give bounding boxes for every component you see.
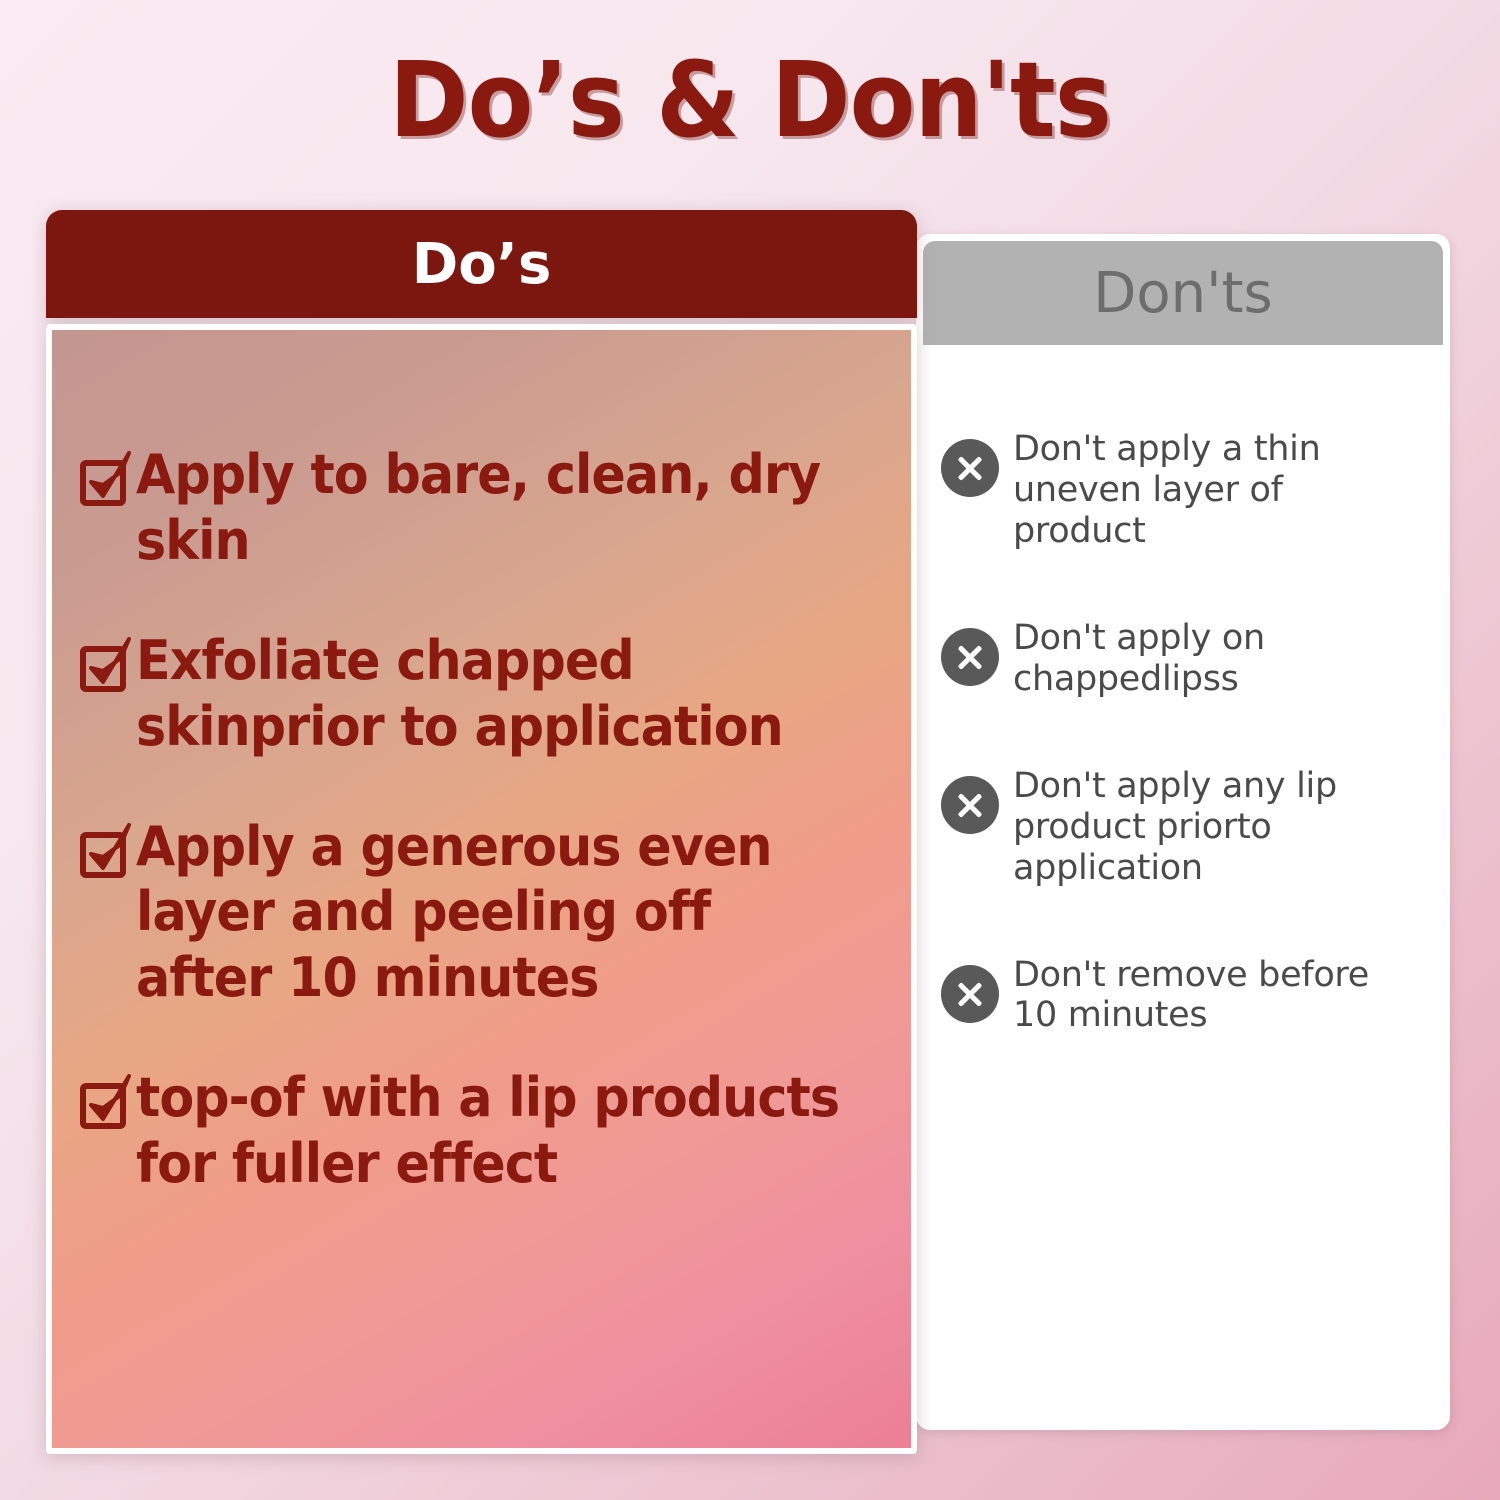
list-item-label: Don't apply any lip product priorto appl… [1013,764,1419,889]
dos-card-header: Do’s [46,210,917,318]
list-item: Don't remove before 10 minutes [941,953,1419,1037]
list-item: Don't apply on chappedlipss [941,616,1419,700]
dos-list: Apply to bare, clean, dry skin Exfoliate… [46,324,917,1454]
page-title: Do’s & Don'ts [60,46,1440,155]
list-item-label: Don't apply on chappedlipss [1013,616,1419,700]
x-circle-icon [941,628,999,686]
list-item-label: Don't remove before 10 minutes [1013,953,1419,1037]
list-item: Don't apply any lip product priorto appl… [941,764,1419,889]
dos-and-donts-poster: Do’s & Don'ts Don'ts Don't apply a thin … [0,0,1500,1500]
x-circle-icon [941,439,999,497]
list-item: Apply to bare, clean, dry skin [80,442,885,574]
list-item: top-of with a lip products for fuller ef… [80,1065,885,1197]
donts-header-title: Don'ts [1093,261,1272,326]
list-item: Don't apply a thin uneven layer of produ… [941,427,1419,552]
checkbox-checked-icon [80,822,134,880]
checkbox-checked-icon [80,450,134,508]
checkbox-checked-icon [80,636,134,694]
list-item-label: Don't apply a thin uneven layer of produ… [1013,427,1419,552]
list-item-label: Apply a generous even layer and peeling … [136,814,840,1012]
dos-card: Do’s Apply to bare, clean, dry skin [46,210,917,1454]
x-circle-icon [941,776,999,834]
donts-card-header: Don'ts [923,241,1443,345]
list-item-label: Apply to bare, clean, dry skin [136,442,840,574]
list-item: Apply a generous even layer and peeling … [80,814,885,1012]
donts-list: Don't apply a thin uneven layer of produ… [923,345,1443,1036]
list-item-label: top-of with a lip products for fuller ef… [136,1065,840,1197]
x-circle-icon [941,965,999,1023]
checkbox-checked-icon [80,1073,134,1131]
list-item: Exfoliate chapped skinprior to applicati… [80,628,885,760]
list-item-label: Exfoliate chapped skinprior to applicati… [136,628,840,760]
donts-card: Don'ts Don't apply a thin uneven layer o… [916,234,1450,1430]
dos-header-title: Do’s [412,232,552,297]
